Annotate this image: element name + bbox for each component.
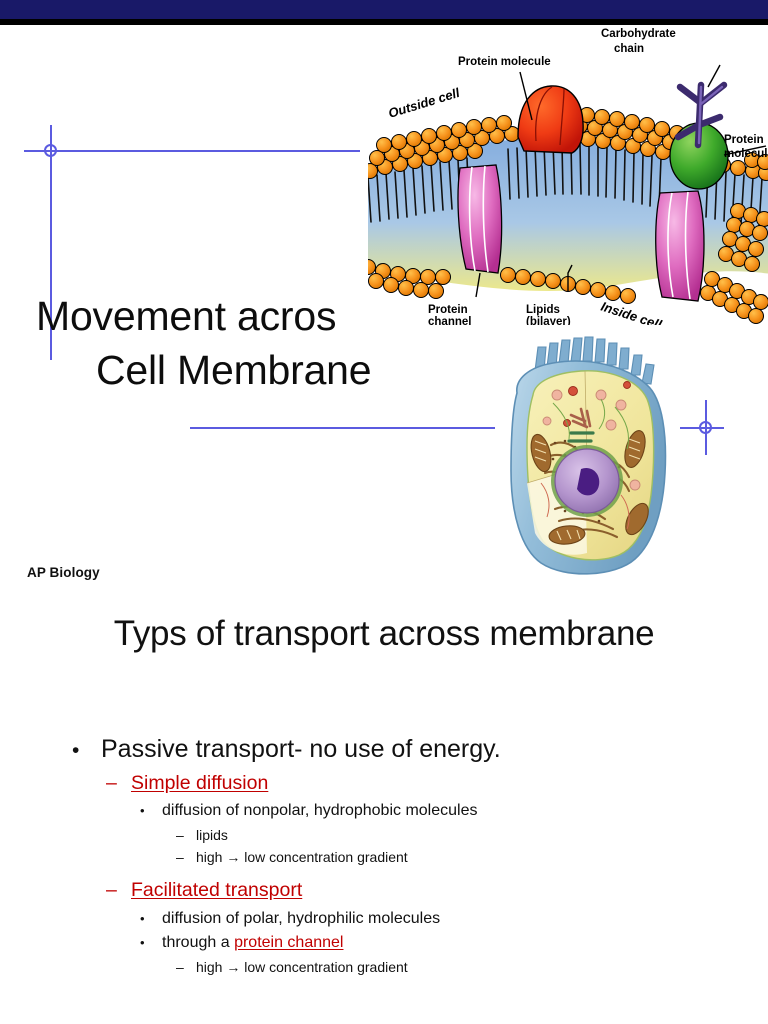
label-carbohydrate-chain-line2: chain [614, 43, 644, 55]
label-protein-molecule-top: Protein molecule [458, 56, 551, 68]
bullet-marker: • [140, 933, 162, 953]
bullet-marker: – [176, 846, 196, 868]
guide-line-horizontal-left [24, 150, 360, 152]
title-line-2: Cell Membrane [36, 343, 456, 397]
label-carbohydrate-chain-line1: Carbohydrate [601, 28, 676, 40]
list-item: – lipids [176, 824, 768, 846]
list-item: – high → low concentration gradient [176, 956, 768, 978]
label-lipids-line1: Lipids [526, 304, 560, 316]
section-title: Typs of transport across membrane [0, 614, 768, 654]
list-item-label: diffusion of polar, hydrophilic molecule… [162, 907, 440, 932]
anchor-handle-right[interactable] [699, 421, 712, 434]
bullet-marker: – [176, 824, 196, 846]
bullet-marker: • [72, 737, 101, 766]
list-item-label: high → low concentration gradient [196, 956, 408, 978]
animal-cell-diagram-image [495, 333, 680, 595]
slide-content-panel: Typs of transport across membrane • Pass… [0, 586, 768, 1024]
list-item: • Passive transport- no use of energy. [72, 732, 768, 767]
label-protein-molecule-right-line1: Protein [724, 134, 764, 146]
label-lipids-line2: (bilayer) [526, 316, 571, 325]
link-protein-channel[interactable]: protein channel [234, 934, 343, 951]
list-item: • diffusion of polar, hydrophilic molecu… [140, 907, 768, 932]
label-protein-molecule-right-line2: molecule [724, 148, 768, 160]
list-item-label-simple-diffusion[interactable]: Simple diffusion [131, 769, 268, 798]
course-label: AP Biology [27, 565, 100, 580]
list-item: – Facilitated transport [106, 876, 768, 905]
cell-membrane-diagram-image: Protein molecule Carbohydrate chain Prot… [368, 25, 768, 325]
list-item: • through a protein channel [140, 931, 768, 956]
list-item: • diffusion of nonpolar, hydrophobic mol… [140, 799, 768, 824]
list-item-label: diffusion of nonpolar, hydrophobic molec… [162, 799, 477, 824]
list-item: – high → low concentration gradient [176, 846, 768, 868]
list-item-label: high → low concentration gradient [196, 846, 408, 868]
slide-title-panel: Protein molecule Carbohydrate chain Prot… [0, 25, 768, 585]
bullet-marker: • [140, 801, 162, 821]
list-item-label-facilitated-transport[interactable]: Facilitated transport [131, 876, 302, 905]
list-item-label: through a protein channel [162, 931, 343, 956]
anchor-handle-left[interactable] [44, 144, 57, 157]
title-line-1: Movement acros [36, 293, 336, 339]
top-navy-bar [0, 0, 768, 19]
bullet-marker: • [140, 909, 162, 929]
page-title: Movement acros Cell Membrane [36, 289, 456, 397]
list-item-label: lipids [196, 824, 228, 846]
bullet-list: • Passive transport- no use of energy. –… [0, 732, 768, 979]
list-item-text-prefix: through a [162, 934, 234, 951]
bullet-marker: – [106, 769, 131, 798]
list-item: – Simple diffusion [106, 769, 768, 798]
list-item-label: Passive transport- no use of energy. [101, 732, 501, 767]
bullet-marker: – [176, 956, 196, 978]
bullet-marker: – [106, 876, 131, 905]
